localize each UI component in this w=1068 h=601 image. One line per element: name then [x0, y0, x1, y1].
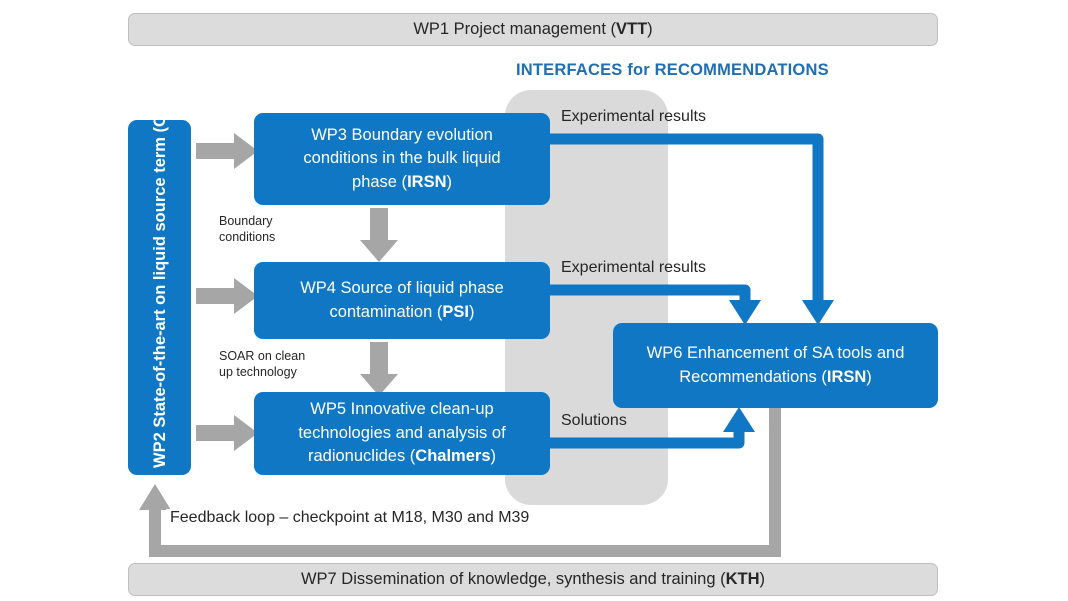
arrow-wp2-to-wp5 — [196, 415, 258, 451]
gray-feed-arrows — [196, 133, 258, 451]
wp3-box[interactable]: WP3 Boundary evolution conditions in the… — [254, 113, 550, 205]
wp6-box[interactable]: WP6 Enhancement of SA tools and Recommen… — [613, 323, 938, 408]
edge-label-soar: SOAR on clean up technology — [219, 348, 305, 380]
arrowhead-feedback-loop — [139, 484, 171, 510]
wp2-label: WP2 State-of-the-art on liquid source te… — [148, 128, 170, 468]
edge-label-experimental-results-mid: Experimental results — [561, 259, 706, 277]
interfaces-heading: INTERFACES for RECOMMENDATIONS — [516, 61, 829, 80]
diagram-canvas: WP1 Project management (VTT) INTERFACES … — [0, 0, 1068, 601]
edge-label-solutions: Solutions — [561, 412, 627, 430]
wp1-label: WP1 Project management (VTT) — [413, 20, 652, 39]
arrowhead-wp5-to-wp6 — [723, 407, 755, 432]
wp5-box[interactable]: WP5 Innovative clean-up technologies and… — [254, 392, 550, 475]
arrow-wp4-to-wp5 — [360, 342, 398, 396]
edge-label-boundary-conditions: Boundary conditions — [219, 213, 275, 245]
arrowhead-wp3-to-wp6 — [802, 300, 834, 325]
wp1-project-management-bar: WP1 Project management (VTT) — [128, 13, 938, 46]
arrow-wp2-to-wp3 — [196, 133, 258, 169]
wp7-dissemination-bar: WP7 Dissemination of knowledge, synthesi… — [128, 563, 938, 596]
wp5-label: WP5 Innovative clean-up technologies and… — [298, 398, 505, 468]
wp4-box[interactable]: WP4 Source of liquid phase contamination… — [254, 262, 550, 339]
wp2-box[interactable]: WP2 State-of-the-art on liquid source te… — [128, 120, 191, 475]
edge-label-experimental-results-top: Experimental results — [561, 108, 706, 126]
arrow-wp2-to-wp4 — [196, 278, 258, 314]
wp4-label: WP4 Source of liquid phase contamination… — [300, 277, 504, 324]
feedback-loop-label: Feedback loop – checkpoint at M18, M30 a… — [166, 509, 533, 527]
arrowhead-wp4-to-wp6 — [729, 300, 761, 325]
arrow-wp3-to-wp4 — [360, 208, 398, 262]
wp6-label: WP6 Enhancement of SA tools and Recommen… — [647, 342, 905, 389]
wp3-label: WP3 Boundary evolution conditions in the… — [303, 124, 500, 194]
wp7-label: WP7 Dissemination of knowledge, synthesi… — [301, 570, 765, 589]
